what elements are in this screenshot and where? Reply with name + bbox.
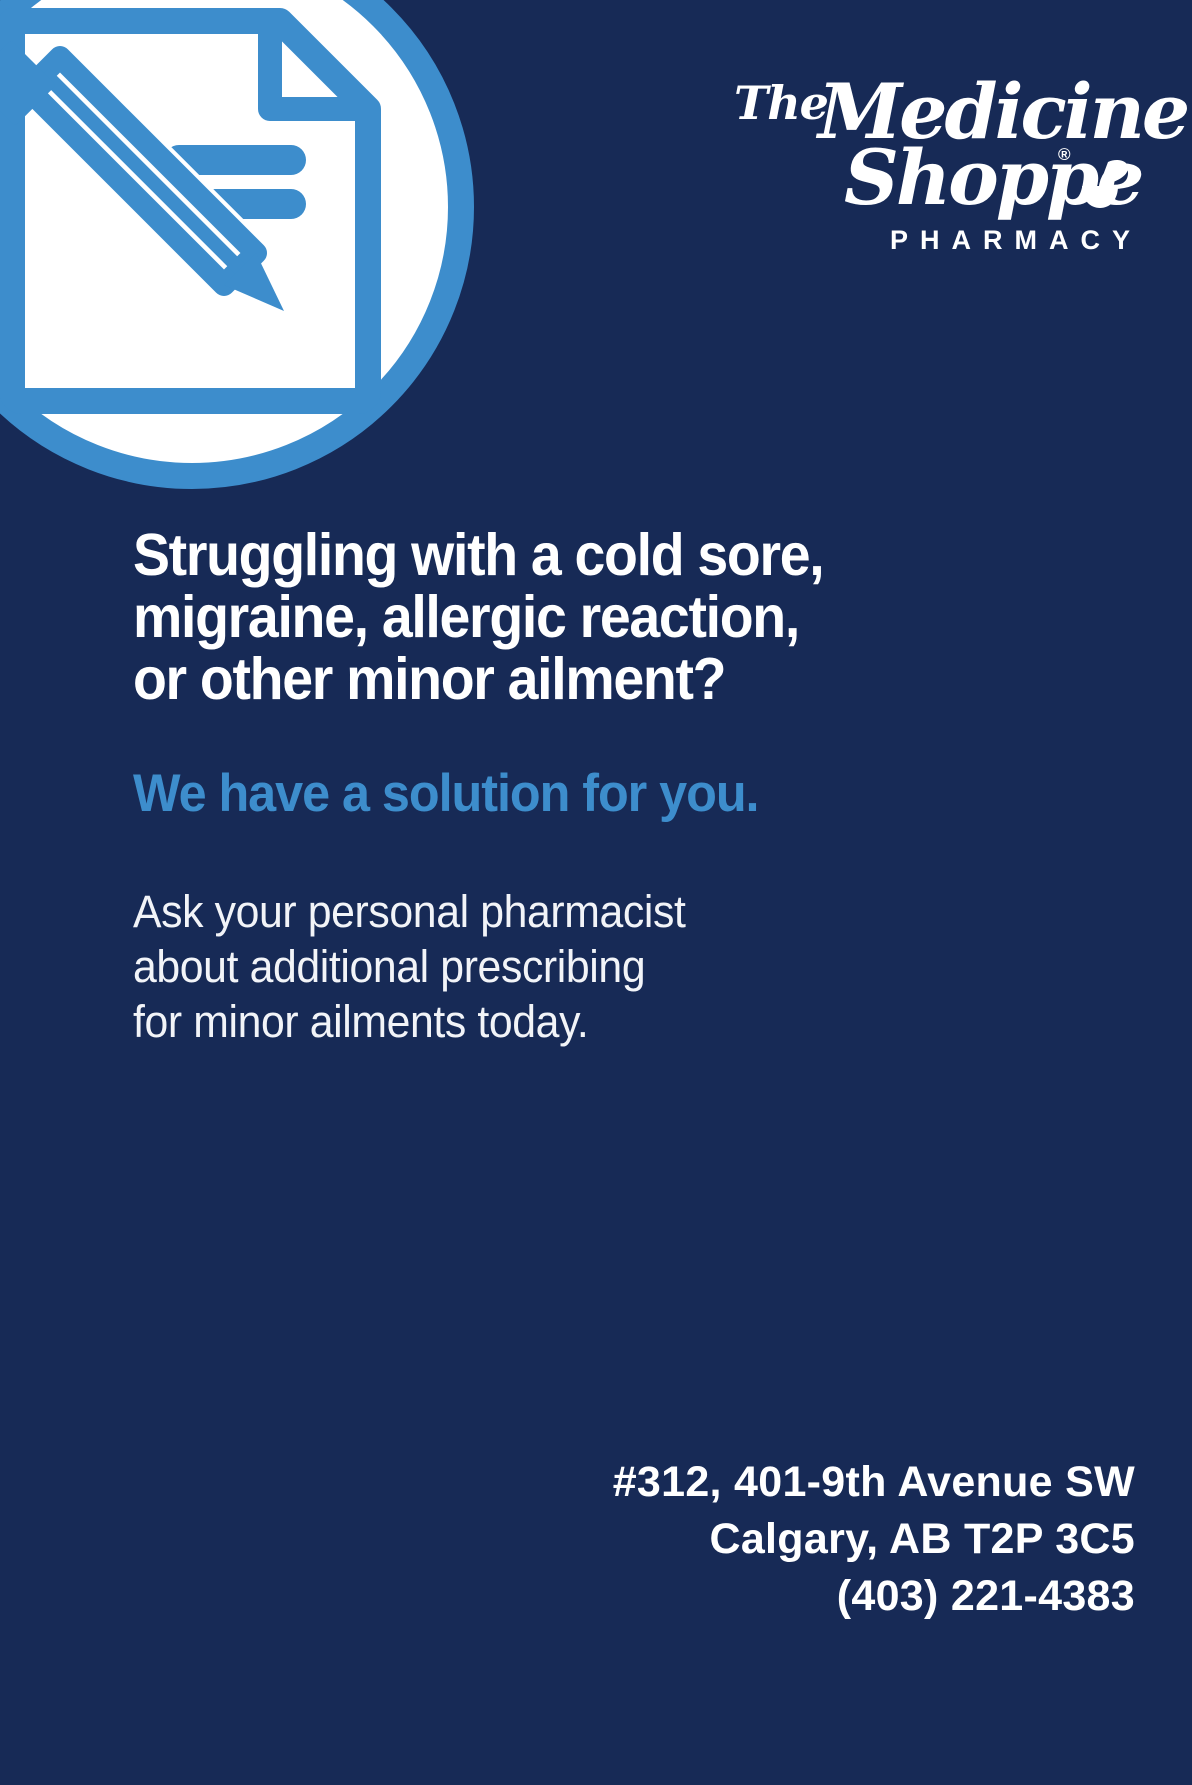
logo-script-wordmark: The Medicine Shoppe ®	[726, 78, 1146, 223]
badge-graphic	[0, 0, 474, 489]
address-street: #312, 401-9th Avenue SW	[613, 1454, 1135, 1511]
document-with-pencil-icon	[0, 0, 392, 421]
logo-word-pharmacy: PHARMACY	[726, 225, 1146, 256]
body-line-2: about additional prescribing	[133, 939, 960, 994]
address-phone[interactable]: (403) 221-4383	[613, 1568, 1135, 1625]
logo-word-the: The	[734, 80, 828, 126]
body-line-3: for minor ailments today.	[133, 994, 960, 1049]
address-city: Calgary, AB T2P 3C5	[613, 1511, 1135, 1568]
copy-block: Struggling with a cold sore, migraine, a…	[133, 524, 1003, 1049]
headline: Struggling with a cold sore, migraine, a…	[133, 524, 951, 710]
store-address-block: #312, 401-9th Avenue SW Calgary, AB T2P …	[613, 1454, 1135, 1625]
mortar-and-pestle-icon	[1078, 156, 1130, 212]
body-line-1: Ask your personal pharmacist	[133, 884, 960, 939]
headline-line-2: migraine, allergic reaction,	[133, 586, 951, 648]
medicine-shoppe-logo: The Medicine Shoppe ® PHARMACY	[726, 78, 1146, 256]
body-copy: Ask your personal pharmacist about addit…	[133, 884, 960, 1049]
registered-trademark-icon: ®	[1058, 146, 1071, 163]
poster-canvas: The Medicine Shoppe ® PHARMACY Strugglin…	[0, 0, 1192, 1785]
headline-line-1: Struggling with a cold sore,	[133, 524, 951, 586]
headline-line-3: or other minor ailment?	[133, 648, 951, 710]
subheadline: We have a solution for you.	[133, 766, 960, 822]
